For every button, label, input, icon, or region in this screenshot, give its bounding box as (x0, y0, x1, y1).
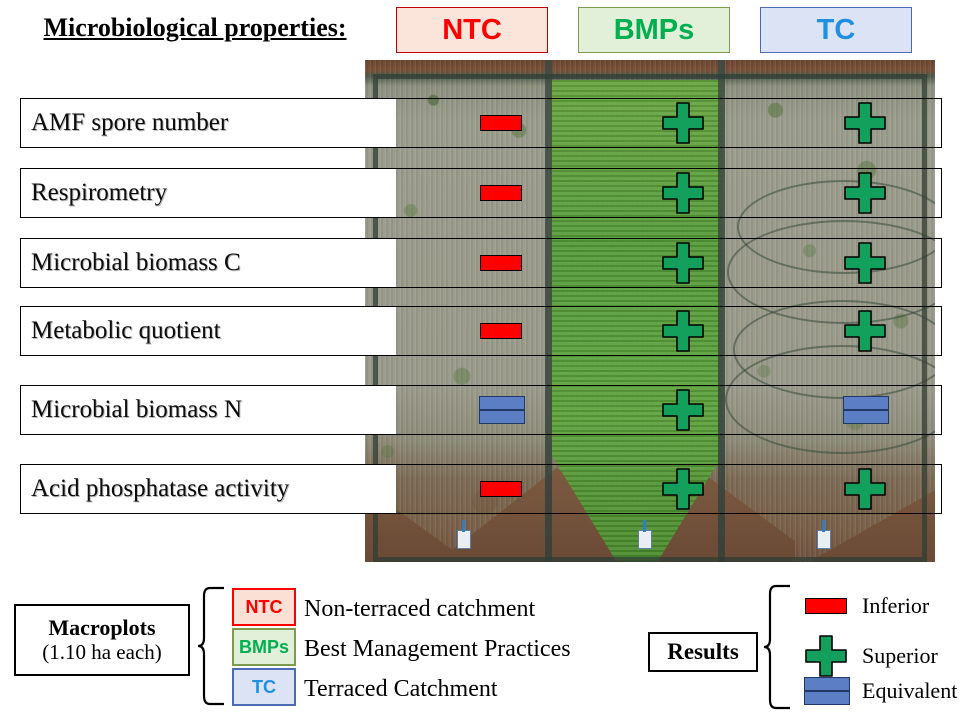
property-row[interactable]: AMF spore number (20, 98, 942, 148)
result-cell-bmps[interactable] (623, 386, 743, 434)
result-cell-tc[interactable] (805, 386, 925, 434)
property-label: AMF spore number (31, 99, 228, 147)
treatment-header-tc[interactable]: TC (760, 7, 912, 53)
treatment-header-ntc[interactable]: NTC (396, 7, 548, 53)
result-cell-tc[interactable] (805, 169, 925, 217)
result-cell-ntc[interactable] (441, 465, 561, 513)
results-brace (762, 584, 792, 710)
inferior-icon (480, 481, 522, 497)
inferior-icon (800, 598, 852, 614)
results-key-superior: Superior (800, 634, 938, 678)
result-cell-tc[interactable] (805, 307, 925, 355)
legend-swatch-bmps[interactable]: BMPs (232, 628, 296, 666)
result-cell-bmps[interactable] (623, 169, 743, 217)
equivalent-icon (800, 677, 852, 705)
legend-text-bmps: Best Management Practices (304, 636, 571, 663)
result-cell-ntc[interactable] (441, 386, 561, 434)
result-cell-ntc[interactable] (441, 169, 561, 217)
results-key-label: Equivalent (862, 678, 957, 704)
results-key-inferior: Inferior (800, 593, 929, 619)
results-key-label: Superior (862, 643, 938, 669)
result-cell-tc[interactable] (805, 465, 925, 513)
results-key-equivalent: Equivalent (800, 677, 957, 705)
macroplots-title: Macroplots (48, 615, 155, 640)
property-label: Metabolic quotient (31, 307, 221, 355)
result-cell-ntc[interactable] (441, 99, 561, 147)
superior-icon (661, 101, 705, 145)
legend-swatch-tc[interactable]: TC (232, 668, 296, 706)
superior-icon (661, 309, 705, 353)
property-row[interactable]: Microbial biomass C (20, 238, 942, 288)
superior-icon (843, 171, 887, 215)
treatment-header-bmps[interactable]: BMPs (578, 7, 730, 53)
property-row[interactable]: Acid phosphatase activity (20, 464, 942, 514)
legend-text-tc: Terraced Catchment (304, 676, 498, 703)
result-cell-tc[interactable] (805, 239, 925, 287)
inferior-icon (480, 185, 522, 201)
inferior-icon (480, 323, 522, 339)
inferior-icon (480, 255, 522, 271)
equivalent-icon (479, 396, 523, 424)
photo-outlet-structure (638, 530, 652, 549)
superior-icon (661, 467, 705, 511)
macroplots-box: Macroplots (1.10 ha each) (14, 604, 190, 676)
result-cell-bmps[interactable] (623, 307, 743, 355)
equivalent-icon (843, 396, 887, 424)
page-title: Microbiological properties: (40, 12, 350, 43)
inferior-icon (480, 115, 522, 131)
result-cell-tc[interactable] (805, 99, 925, 147)
property-label: Microbial biomass C (31, 239, 241, 287)
macroplots-area: (1.10 ha each) (42, 640, 162, 665)
results-box: Results (648, 632, 758, 672)
property-row[interactable]: Metabolic quotient (20, 306, 942, 356)
figure-canvas: Microbiological properties: NTC BMPs TC … (0, 0, 960, 720)
superior-icon (661, 171, 705, 215)
superior-icon (843, 467, 887, 511)
property-label: Respirometry (31, 169, 167, 217)
result-cell-ntc[interactable] (441, 239, 561, 287)
superior-icon (800, 634, 852, 678)
result-cell-bmps[interactable] (623, 99, 743, 147)
superior-icon (843, 241, 887, 285)
results-key-label: Inferior (862, 593, 929, 619)
result-cell-bmps[interactable] (623, 465, 743, 513)
superior-icon (661, 388, 705, 432)
property-row[interactable]: Respirometry (20, 168, 942, 218)
photo-outlet-structure (817, 530, 831, 549)
property-label: Acid phosphatase activity (31, 465, 289, 513)
photo-outlet-structure (457, 530, 471, 549)
property-row[interactable]: Microbial biomass N (20, 385, 942, 435)
superior-icon (661, 241, 705, 285)
macroplots-brace (196, 586, 226, 706)
legend-swatch-ntc[interactable]: NTC (232, 588, 296, 626)
superior-icon (843, 309, 887, 353)
property-label: Microbial biomass N (31, 386, 242, 434)
result-cell-bmps[interactable] (623, 239, 743, 287)
superior-icon (843, 101, 887, 145)
legend-text-ntc: Non-terraced catchment (304, 596, 535, 623)
result-cell-ntc[interactable] (441, 307, 561, 355)
